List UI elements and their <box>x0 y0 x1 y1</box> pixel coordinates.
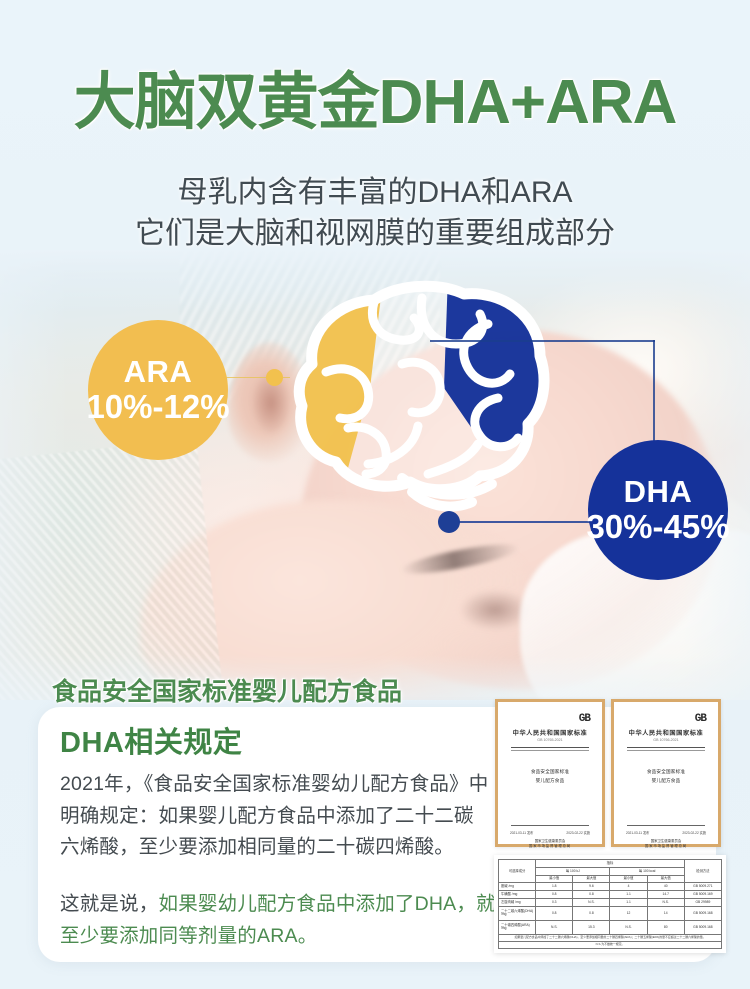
cell-v: 80 <box>647 920 684 934</box>
cell-v: 9.6 <box>573 883 610 891</box>
cell-method: GB 5009.271 <box>684 883 721 891</box>
cell-method: GB 5009.169 <box>684 891 721 899</box>
th-component: 可选择成分 <box>499 860 536 883</box>
document-code-2: GB 10766-2021 <box>619 738 713 742</box>
document-footer-rule-2 <box>627 825 705 826</box>
document-rule-2 <box>627 747 705 748</box>
dha-badge-value: 30%-45% <box>586 510 729 544</box>
ara-badge: ARA 10%-12% <box>88 320 228 460</box>
cell-v: 4 <box>610 883 647 891</box>
cell-name: 二十碳四烯酸(ARA) /mg <box>499 920 536 934</box>
standard-document-thumbnails: GB 中华人民共和国国家标准 GB 10765-2021 食品安全国家标准 婴儿… <box>495 699 721 849</box>
cell-v: 12 <box>610 906 647 920</box>
header-block: 大脑双黄金DHA+ARA 母乳内含有丰富的DHA和ARA 它们是大脑和视网膜的重… <box>0 0 750 262</box>
document-effect-date-2: 2023-02-22 实施 <box>682 830 706 835</box>
regulation-card: DHA相关规定 2021年，《食品安全国家标准婴幼儿配方食品》中明确规定：如果婴… <box>38 707 716 962</box>
subtitle-line-1: 母乳内含有丰富的DHA和ARA <box>0 172 750 213</box>
document-issue-date-2: 2021-03-11 发布 <box>626 830 649 835</box>
table-note-row-1: 如果婴儿配方食品中添加了二十二碳六烯酸(DHA)，至少要添加相同量的二十碳四烯酸… <box>499 934 722 941</box>
cell-v: N.S. <box>647 899 684 907</box>
th-max-a: 最大值 <box>573 875 610 883</box>
gb-standard-document-1: GB 中华人民共和国国家标准 GB 10765-2021 食品安全国家标准 婴儿… <box>495 699 605 847</box>
document-footer-org2-2: 国家市场监督管理总局 <box>619 843 713 848</box>
document-page-2: GB 中华人民共和国国家标准 GB 10766-2021 食品安全国家标准 婴儿… <box>619 707 713 839</box>
section-label: 食品安全国家标准婴儿配方食品 <box>52 672 402 708</box>
table-note-2: N.S.为不做统一规定。 <box>499 941 722 948</box>
cell-v: 15.3 <box>573 920 610 934</box>
cell-v: N.S. <box>536 920 573 934</box>
document-org-2: 中华人民共和国国家标准 <box>619 728 713 737</box>
page-title: 大脑双黄金DHA+ARA <box>0 72 750 134</box>
cell-method: GB 5009.168 <box>684 906 721 920</box>
cell-v: N.S. <box>610 920 647 934</box>
blue-pointer-dot <box>438 511 460 533</box>
table-row: 牛磺酸 /mg 0.8 0.8 1.1 14.7 GB 5009.169 <box>499 891 722 899</box>
th-per100g: 每 100 kJ <box>536 867 610 875</box>
cell-v: 1.8 <box>536 883 573 891</box>
paragraph-2-prefix: 这就是说， <box>60 893 159 915</box>
ara-badge-value: 10%-12% <box>86 390 229 424</box>
cell-v: 0.8 <box>536 906 573 920</box>
dha-badge-label: DHA <box>624 476 693 508</box>
dha-connector-line-horizontal <box>430 340 655 342</box>
cell-name: 二十二碳六烯酸(DHA) /mg <box>499 906 536 920</box>
table-note-row-2: N.S.为不做统一规定。 <box>499 941 722 948</box>
document-rule-1b <box>511 750 589 751</box>
cell-v: 14.7 <box>647 891 684 899</box>
table-note-1: 如果婴儿配方食品中添加了二十二碳六烯酸(DHA)，至少要添加相同量的二十碳四烯酸… <box>499 934 722 941</box>
cell-v: 0.8 <box>573 906 610 920</box>
regulation-paragraph-2: 这就是说，如果婴幼儿配方食品中添加了DHA，就至少要添加同等剂量的ARA。 <box>60 889 500 952</box>
nutrition-table-thumbnail: 可选择成分 指标 检测方法 每 100 kJ 每 100 kcal 最小值 最大… <box>494 855 726 953</box>
th-max-b: 最大值 <box>647 875 684 883</box>
cell-name: 胆碱 /mg <box>499 883 536 891</box>
cell-method: GB 5009.168 <box>684 920 721 934</box>
product-detail-page: ARA 10%-12% DHA 30%-45% 大脑双黄金DHA+ARA 母乳内… <box>0 0 750 989</box>
table-row: 胆碱 /mg 1.8 9.6 4 40 GB 5009.271 <box>499 883 722 891</box>
th-per100kcal: 每 100 kcal <box>610 867 684 875</box>
document-org-1: 中华人民共和国国家标准 <box>503 728 597 737</box>
page-subtitle: 母乳内含有丰富的DHA和ARA 它们是大脑和视网膜的重要组成部分 <box>0 172 750 255</box>
card-title: DHA相关规定 <box>60 719 242 761</box>
document-title-line1-1: 食品安全国家标准 <box>503 769 597 775</box>
table-row: 二十碳四烯酸(ARA) /mg N.S. 15.3 N.S. 80 GB 500… <box>499 920 722 934</box>
cell-name: 牛磺酸 /mg <box>499 891 536 899</box>
cell-v: 0.3 <box>536 899 573 907</box>
th-min-b: 最小值 <box>610 875 647 883</box>
th-min-a: 最小值 <box>536 875 573 883</box>
document-title-line1-2: 食品安全国家标准 <box>619 769 713 775</box>
cell-v: 0.8 <box>573 891 610 899</box>
dha-badge: DHA 30%-45% <box>588 440 728 580</box>
subtitle-line-2: 它们是大脑和视网膜的重要组成部分 <box>0 213 750 254</box>
document-page-1: GB 中华人民共和国国家标准 GB 10765-2021 食品安全国家标准 婴儿… <box>503 707 597 839</box>
regulation-paragraph-1: 2021年，《食品安全国家标准婴幼儿配方食品》中明确规定：如果婴儿配方食品中添加… <box>60 769 490 864</box>
gb-logo-1: GB <box>579 713 590 725</box>
cell-v: 0.8 <box>536 891 573 899</box>
ara-badge-label: ARA <box>124 356 193 388</box>
cell-method: GB 29989 <box>684 899 721 907</box>
table-row: 二十二碳六烯酸(DHA) /mg 0.8 0.8 12 14 GB 5009.1… <box>499 906 722 920</box>
cell-v: 1.1 <box>610 899 647 907</box>
table-header-row-1: 可选择成分 指标 检测方法 <box>499 860 722 868</box>
cell-v: 40 <box>647 883 684 891</box>
gb-logo-2: GB <box>695 713 706 725</box>
cell-name: 左旋肉碱 /mg <box>499 899 536 907</box>
ara-connector-dot <box>266 369 283 386</box>
document-effect-date-1: 2023-02-22 实施 <box>566 830 590 835</box>
document-title-line2-1: 婴儿配方食品 <box>503 778 597 784</box>
document-title-line2-2: 婴儿配方食品 <box>619 778 713 784</box>
brain-illustration <box>252 268 562 528</box>
cell-v: N.S. <box>573 899 610 907</box>
document-footer-rule-1 <box>511 825 589 826</box>
th-group: 指标 <box>536 860 685 868</box>
cell-v: 14 <box>647 906 684 920</box>
document-rule-1 <box>511 747 589 748</box>
document-issue-date-1: 2021-03-11 发布 <box>510 830 533 835</box>
document-rule-2b <box>627 750 705 751</box>
gb-standard-document-2: GB 中华人民共和国国家标准 GB 10766-2021 食品安全国家标准 婴儿… <box>611 699 721 847</box>
document-footer-org2-1: 国家市场监督管理总局 <box>503 843 597 848</box>
document-code-1: GB 10765-2021 <box>503 738 597 742</box>
cell-v: 1.1 <box>610 891 647 899</box>
th-method: 检测方法 <box>684 860 721 883</box>
nutrition-table: 可选择成分 指标 检测方法 每 100 kJ 每 100 kcal 最小值 最大… <box>498 859 722 949</box>
table-row: 左旋肉碱 /mg 0.3 N.S. 1.1 N.S. GB 29989 <box>499 899 722 907</box>
